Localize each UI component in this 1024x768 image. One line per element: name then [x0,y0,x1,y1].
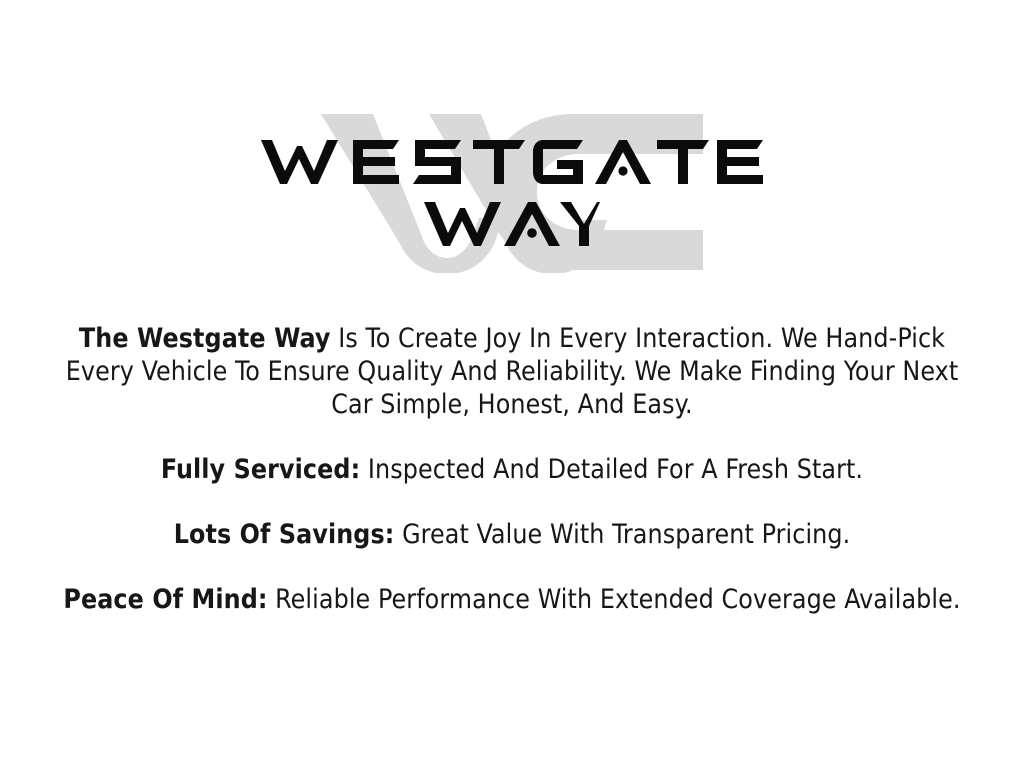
paragraph-intro: The Westgate Way Is To Create Joy In Eve… [57,322,967,421]
brand-wordmark [0,100,1024,290]
brand-wordmark-line-westgate [261,138,763,186]
paragraph-peace-of-mind: Peace Of Mind: Reliable Performance With… [22,583,1002,616]
point-1-rest-text: Great Value With Transparent Pricing. [394,519,850,550]
point-1-lead-text: Lots Of Savings: [174,519,395,550]
paragraph-lots-of-savings: Lots Of Savings: Great Value With Transp… [22,518,1002,551]
paragraph-fully-serviced: Fully Serviced: Inspected And Detailed F… [22,453,1002,486]
body-copy: The Westgate Way Is To Create Joy In Eve… [0,322,1024,616]
point-0-rest-text: Inspected And Detailed For A Fresh Start… [360,454,863,485]
slide-canvas: The Westgate Way Is To Create Joy In Eve… [0,0,1024,768]
point-2-rest-text: Reliable Performance With Extended Cover… [268,584,961,615]
brand-logo-block [0,100,1024,290]
point-2-lead-text: Peace Of Mind: [63,584,267,615]
point-0-lead-text: Fully Serviced: [161,454,360,485]
brand-wordmark-line-way [424,200,600,248]
intro-lead-text: The Westgate Way [79,323,331,354]
